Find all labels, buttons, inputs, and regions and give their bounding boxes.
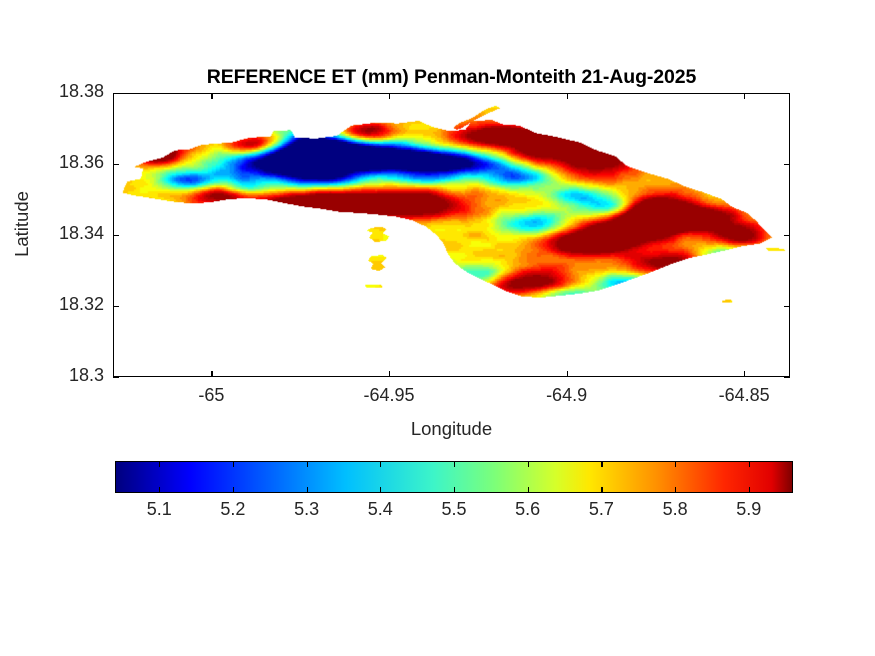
map-axes bbox=[113, 93, 790, 377]
y-tick-mark bbox=[113, 93, 119, 94]
y-tick-mark bbox=[113, 164, 119, 165]
x-tick-mark bbox=[389, 371, 390, 377]
x-axis-label: Longitude bbox=[113, 418, 790, 440]
x-tick-mark bbox=[567, 371, 568, 377]
y-tick-mark bbox=[784, 93, 790, 94]
x-tick-mark bbox=[744, 93, 745, 99]
colorbar-tick-mark bbox=[675, 461, 676, 467]
page-title: REFERENCE ET (mm) Penman-Monteith 21-Aug… bbox=[113, 66, 790, 89]
colorbar-tick-mark bbox=[307, 487, 308, 493]
colorbar-tick-mark bbox=[749, 487, 750, 493]
y-tick-mark bbox=[784, 377, 790, 378]
colorbar-tick-mark bbox=[675, 487, 676, 493]
y-tick-label: 18.3 bbox=[0, 365, 104, 386]
y-tick-mark bbox=[784, 164, 790, 165]
x-tick-mark bbox=[389, 93, 390, 99]
colorbar-tick-label: 5.9 bbox=[704, 499, 794, 520]
y-axis-label: Latitude bbox=[11, 144, 33, 304]
x-tick-label: -64.85 bbox=[684, 385, 804, 406]
colorbar-tick-mark bbox=[454, 487, 455, 493]
y-tick-mark bbox=[784, 235, 790, 236]
colorbar-tick-mark bbox=[159, 487, 160, 493]
colorbar-tick-mark bbox=[749, 461, 750, 467]
y-tick-mark bbox=[113, 377, 119, 378]
colorbar-tick-mark bbox=[601, 461, 602, 467]
x-tick-mark bbox=[567, 93, 568, 99]
et-contour-map bbox=[114, 94, 789, 376]
matlab-figure: REFERENCE ET (mm) Penman-Monteith 21-Aug… bbox=[0, 0, 875, 656]
colorbar-tick-mark bbox=[380, 461, 381, 467]
y-tick-mark bbox=[113, 235, 119, 236]
colorbar-tick-mark bbox=[159, 461, 160, 467]
y-tick-mark bbox=[113, 306, 119, 307]
colorbar-tick-mark bbox=[601, 487, 602, 493]
colorbar-tick-mark bbox=[233, 487, 234, 493]
x-tick-label: -64.9 bbox=[507, 385, 627, 406]
x-tick-label: -64.95 bbox=[329, 385, 449, 406]
x-tick-mark bbox=[744, 371, 745, 377]
colorbar bbox=[115, 461, 793, 493]
x-tick-mark bbox=[211, 371, 212, 377]
x-tick-label: -65 bbox=[151, 385, 271, 406]
colorbar-tick-mark bbox=[528, 461, 529, 467]
x-tick-mark bbox=[211, 93, 212, 99]
colorbar-tick-mark bbox=[454, 461, 455, 467]
colorbar-tick-mark bbox=[528, 487, 529, 493]
colorbar-tick-mark bbox=[380, 487, 381, 493]
y-tick-mark bbox=[784, 306, 790, 307]
colorbar-tick-mark bbox=[233, 461, 234, 467]
colorbar-tick-mark bbox=[307, 461, 308, 467]
y-tick-label: 18.38 bbox=[0, 81, 104, 102]
